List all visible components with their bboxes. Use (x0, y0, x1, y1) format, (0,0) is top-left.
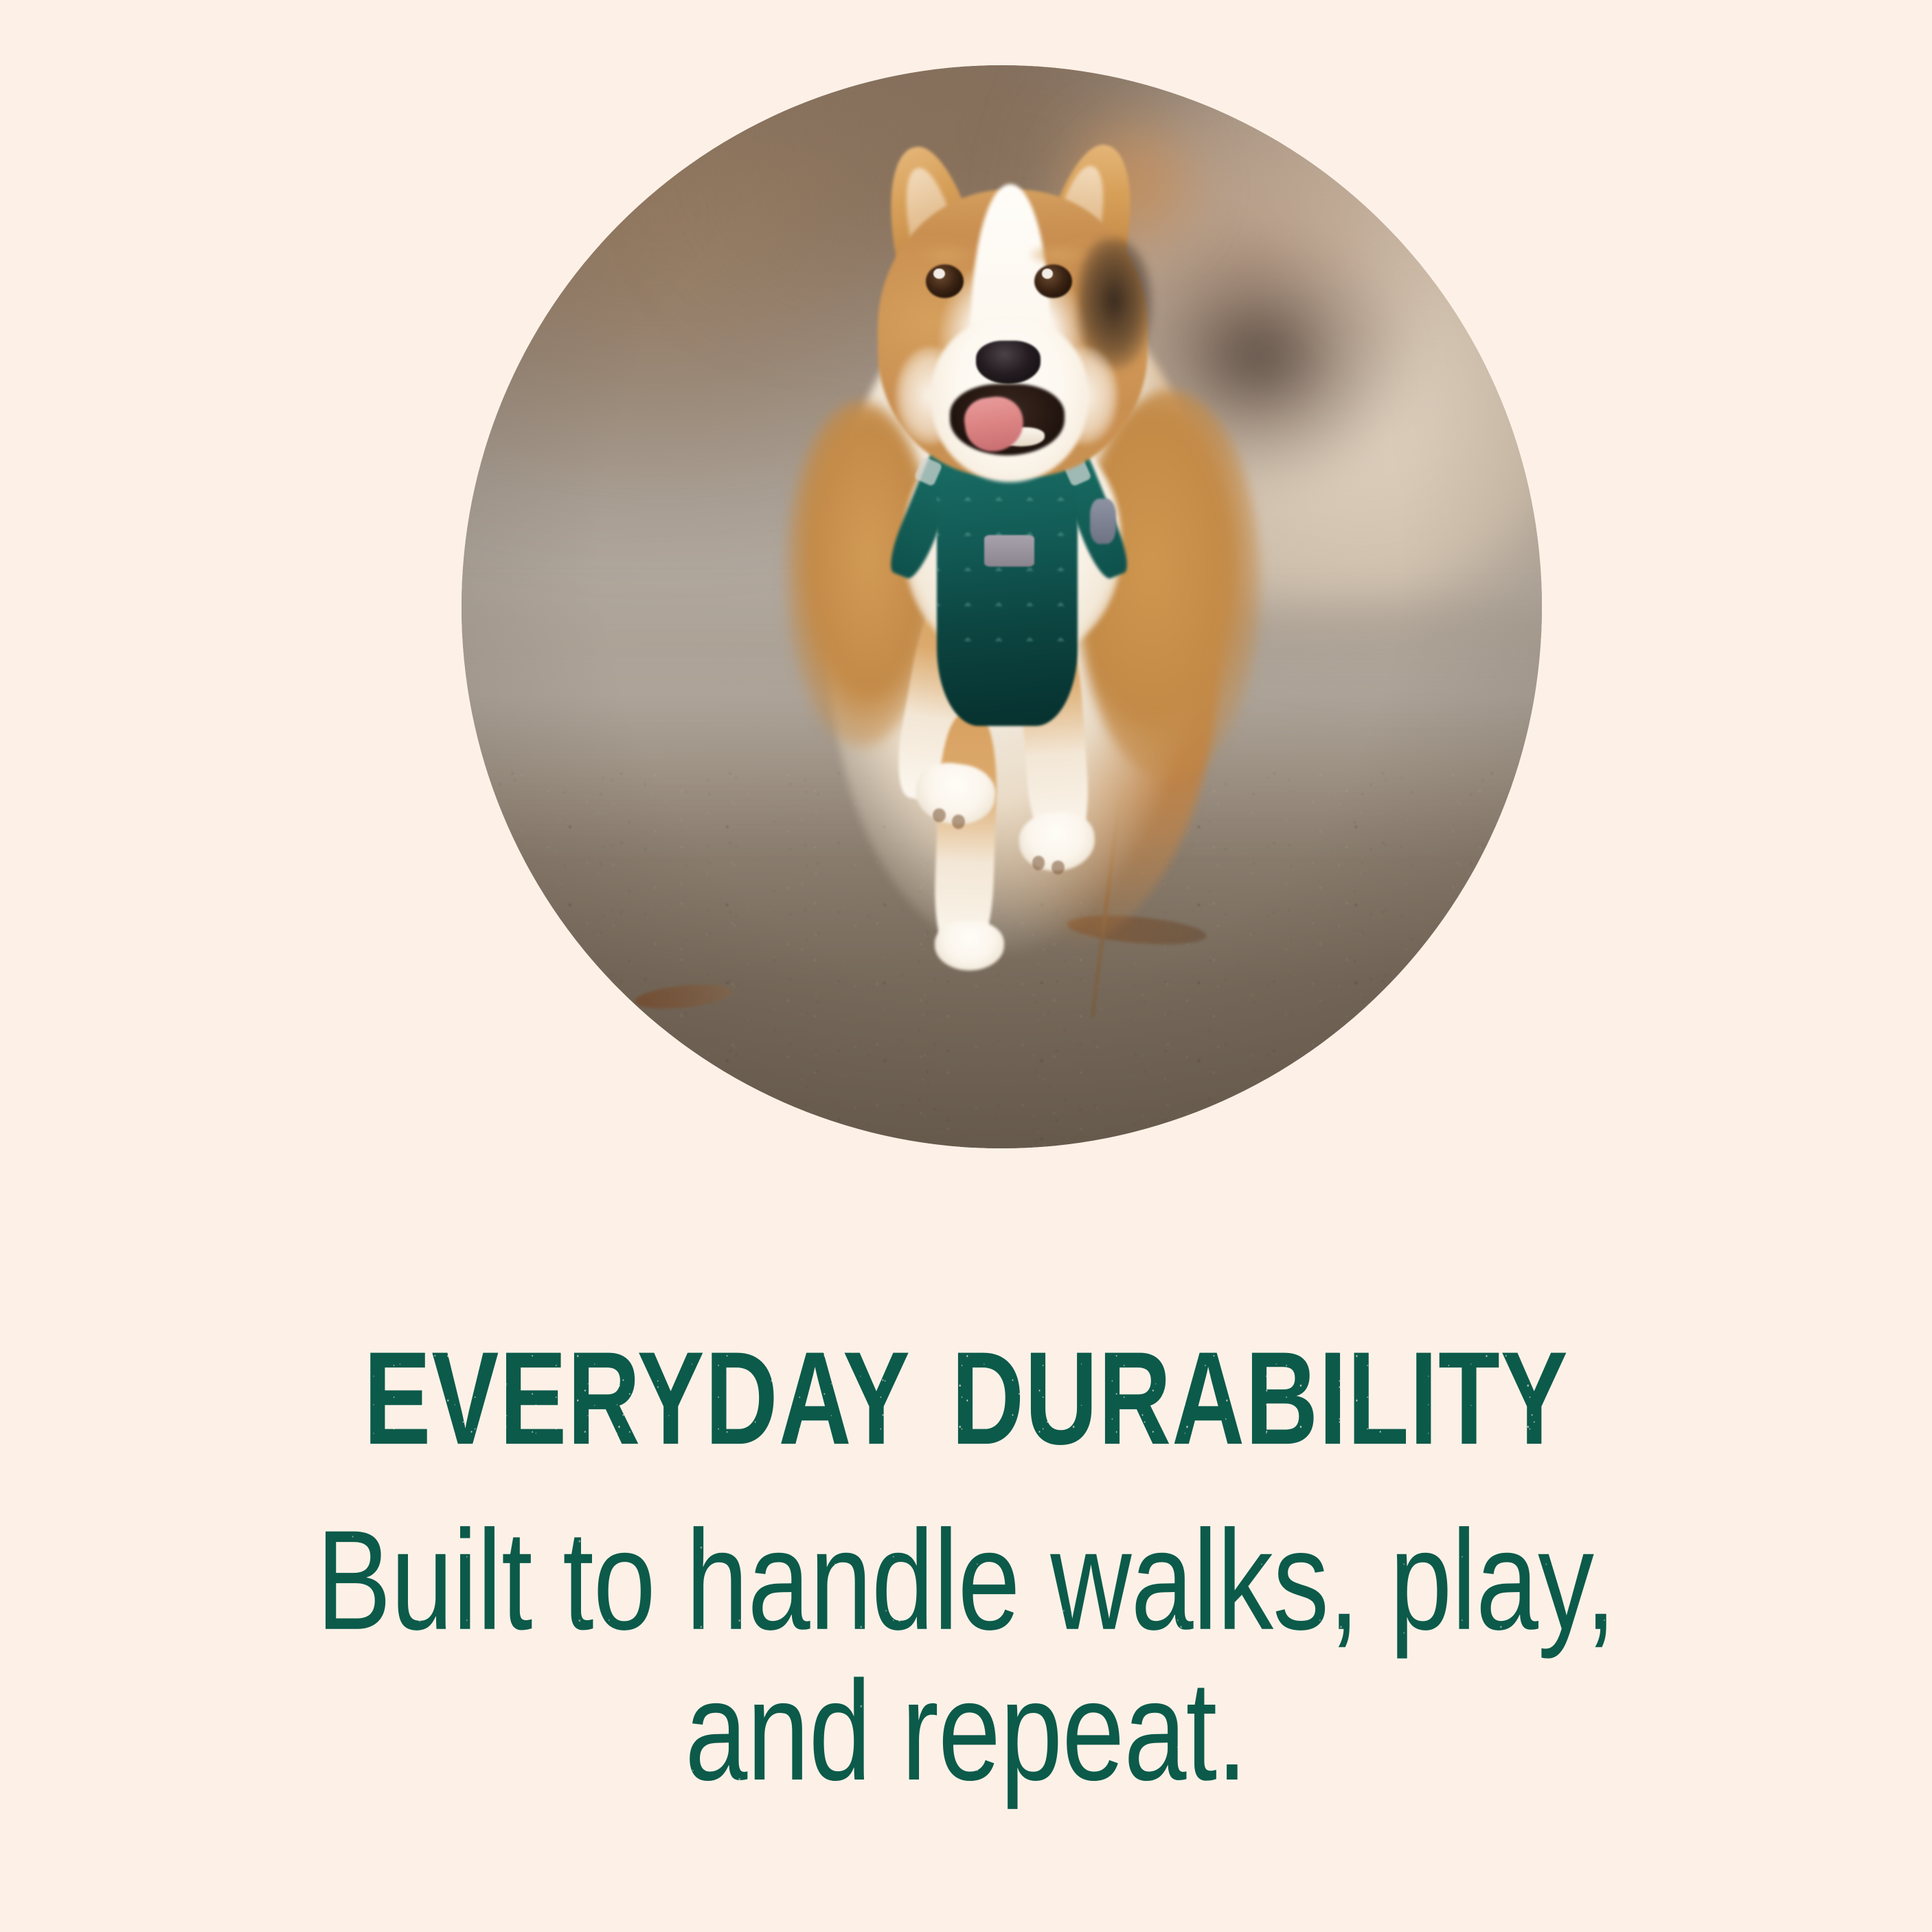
harness-buckle (984, 535, 1034, 567)
dog-eyebrow-left (916, 243, 976, 267)
dog-eye-right (1034, 264, 1072, 298)
dog-paw-rear (935, 921, 1004, 971)
subtitle-line-1: Built to handle walks, play, (78, 1505, 1855, 1656)
dog-nose (976, 341, 1041, 384)
text-block: Everyday Durability Built to handle walk… (0, 1284, 1932, 1764)
harness-leash-clip (1090, 499, 1116, 544)
subtitle-line-2: and repeat. (78, 1656, 1855, 1806)
circular-photo-frame (462, 65, 1542, 1148)
dog-toe (933, 808, 946, 823)
dog-eyebrow-right (1027, 243, 1088, 267)
promo-card: Everyday Durability Built to handle walk… (0, 0, 1932, 1932)
headline: Everyday Durability (155, 1284, 1777, 1473)
corgi-subject (462, 65, 1542, 1148)
dog-toe (1052, 861, 1065, 875)
dog-toe (952, 815, 965, 829)
dog-photo (462, 65, 1542, 1148)
subtitle: Built to handle walks, play, and repeat. (78, 1505, 1855, 1806)
dog-toe (1032, 856, 1045, 870)
